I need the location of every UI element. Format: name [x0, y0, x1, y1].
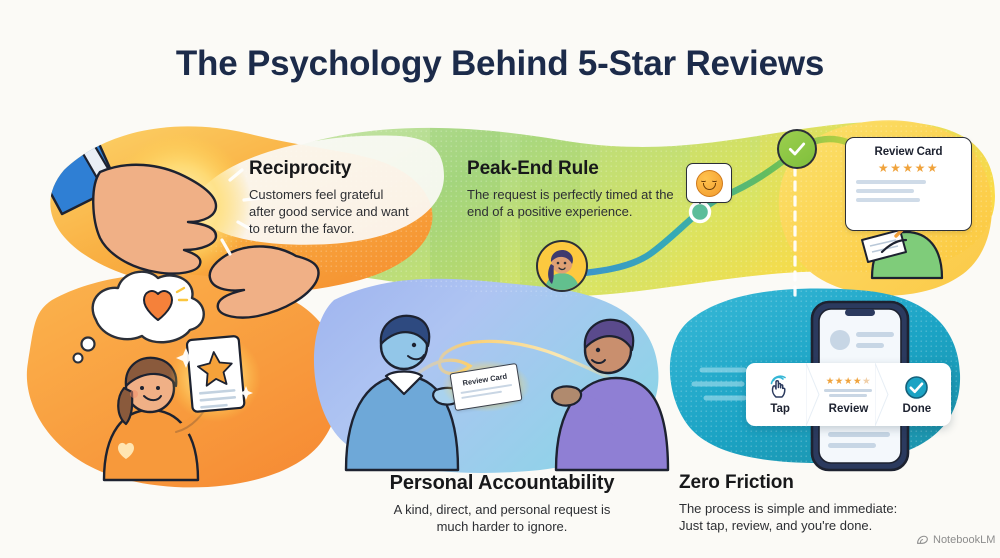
body-line: A kind, direct, and personal request is: [352, 501, 652, 518]
section-reciprocity: Reciprocity Customers feel grateful afte…: [249, 158, 449, 238]
body-line: after good service and want: [249, 203, 449, 220]
review-card-stars: ★★★★★: [846, 161, 971, 175]
step-review-line: [829, 394, 867, 397]
review-card-text-line: [856, 180, 926, 184]
section-heading-peak-end-rule: Peak-End Rule: [467, 158, 687, 180]
smiley-callout: [686, 163, 732, 203]
star-rating-icon: ★★★★★: [824, 374, 872, 400]
section-body-zero-friction: The process is simple and immediate: Jus…: [679, 500, 929, 535]
section-heading-zero-friction: Zero Friction: [679, 472, 929, 494]
section-heading-reciprocity: Reciprocity: [249, 158, 449, 180]
notebooklm-watermark: NotebookLM: [916, 533, 995, 546]
body-line: Just tap, review, and you're done.: [679, 517, 929, 534]
body-line: much harder to ignore.: [352, 518, 652, 535]
notebooklm-logo-icon: [916, 533, 929, 546]
customer-avatar: [536, 240, 588, 292]
body-line: The process is simple and immediate:: [679, 500, 929, 517]
watermark-label: NotebookLM: [933, 534, 995, 546]
section-personal-accountability: Personal Accountability A kind, direct, …: [352, 472, 652, 536]
step-label-review: Review: [829, 403, 869, 415]
step-tap[interactable]: Tap: [746, 363, 814, 426]
review-card-text-line: [856, 189, 914, 193]
step-done[interactable]: Done: [883, 363, 951, 426]
step-label-tap: Tap: [770, 403, 790, 415]
handoff-review-card-title: Review Card: [452, 370, 519, 389]
check-circle-icon: [904, 374, 929, 400]
section-body-personal-accountability: A kind, direct, and personal request is …: [352, 501, 652, 536]
review-card-title: Review Card: [846, 146, 971, 158]
section-peak-end-rule: Peak-End Rule The request is perfectly t…: [467, 158, 687, 220]
body-line: Customers feel grateful: [249, 186, 449, 203]
check-pin-icon: [777, 129, 817, 169]
section-zero-friction: Zero Friction The process is simple and …: [679, 472, 929, 534]
section-body-reciprocity: Customers feel grateful after good servi…: [249, 186, 449, 238]
page-title: The Psychology Behind 5-Star Reviews: [0, 44, 1000, 84]
review-card: Review Card ★★★★★: [845, 137, 972, 231]
tap-hand-icon: [767, 374, 793, 400]
step-review[interactable]: ★★★★★ Review: [814, 363, 882, 426]
zero-friction-steps: Tap ★★★★★ Review Done: [746, 363, 951, 426]
body-line: end of a positive experience.: [467, 203, 687, 220]
step-label-done: Done: [902, 403, 931, 415]
review-card-text-line: [856, 198, 920, 202]
section-body-peak-end-rule: The request is perfectly timed at the en…: [467, 186, 687, 221]
body-line: The request is perfectly timed at the: [467, 186, 687, 203]
body-line: to return the favor.: [249, 220, 449, 237]
step-review-line: [824, 389, 872, 392]
step-review-stars: ★★★★★: [826, 377, 872, 387]
infographic-canvas: The Psychology Behind 5-Star Reviews Rec…: [0, 0, 1000, 558]
section-heading-personal-accountability: Personal Accountability: [352, 472, 652, 495]
smiley-face-icon: [696, 170, 723, 197]
